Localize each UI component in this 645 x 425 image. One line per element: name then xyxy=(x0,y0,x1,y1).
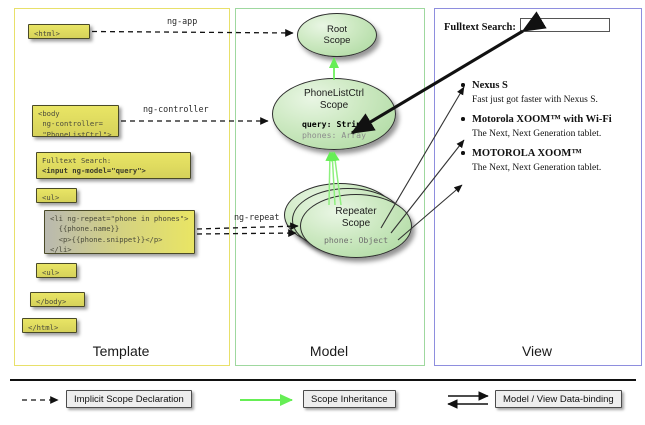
code-box-search: Fulltext Search: <input ng-model="query"… xyxy=(36,152,191,179)
code-box-html-close: </html> xyxy=(22,318,77,333)
panel-label-view: View xyxy=(434,343,640,359)
view-search-input[interactable] xyxy=(520,18,610,32)
legend-item-model-view-data-binding: Model / View Data-binding xyxy=(495,390,622,408)
legend-divider xyxy=(10,379,636,381)
scope-ctrl-line1: PhoneListCtrl xyxy=(304,88,364,100)
panel-view xyxy=(434,8,642,366)
bullet-icon xyxy=(461,151,465,155)
scope-root-line2: Scope xyxy=(324,35,351,46)
phone-name: Motorola XOOM™ with Wi-Fi xyxy=(452,112,632,127)
phone-snippet: The Next, Next Generation tablet. xyxy=(452,127,632,142)
edge-label-ng-app: ng-app xyxy=(167,16,197,26)
phone-snippet: Fast just got faster with Nexus S. xyxy=(452,93,632,108)
code-box-body-open: <body ng-controller= "PhoneListCtrl"> xyxy=(32,105,119,137)
search-box-line2: <input ng-model="query"> xyxy=(42,166,146,175)
phone-name: MOTOROLA XOOM™ xyxy=(452,146,632,161)
scope-root: Root Scope xyxy=(297,13,377,57)
view-phone-list: Nexus S Fast just got faster with Nexus … xyxy=(452,78,632,180)
code-box-ul-open: <ul> xyxy=(36,188,77,203)
scope-var-phone: phone: Object xyxy=(324,236,388,246)
legend-item-scope-inheritance: Scope Inheritance xyxy=(303,390,396,408)
list-item: Nexus S Fast just got faster with Nexus … xyxy=(452,78,632,108)
phone-snippet: The Next, Next Generation tablet. xyxy=(452,161,632,176)
scope-ctrl-line2: Scope xyxy=(320,100,348,112)
bullet-icon xyxy=(461,83,465,87)
view-search-label: Fulltext Search: xyxy=(444,22,516,33)
search-box-line1: Fulltext Search: xyxy=(42,156,111,165)
diagram-canvas: <html> <body ng-controller= "PhoneListCt… xyxy=(0,0,645,425)
code-box-li-repeat: <li ng-repeat="phone in phones"> {{phone… xyxy=(44,210,195,254)
scope-repeater-line1: Repeater xyxy=(335,206,376,218)
edge-label-ng-controller: ng-controller xyxy=(143,104,209,114)
scope-phonelistctrl: PhoneListCtrl Scope query: String phones… xyxy=(272,78,396,150)
list-item: MOTOROLA XOOM™ The Next, Next Generation… xyxy=(452,146,632,176)
code-box-ul-close: <ul> xyxy=(36,263,77,278)
scope-repeater-line2: Scope xyxy=(342,218,370,230)
list-item: Motorola XOOM™ with Wi-Fi The Next, Next… xyxy=(452,112,632,142)
code-box-body-close: </body> xyxy=(30,292,85,307)
panel-label-template: Template xyxy=(14,343,228,359)
scope-repeater: Repeater Scope phone: Object xyxy=(300,194,412,258)
panel-template xyxy=(14,8,230,366)
scope-var-phones: phones: Array xyxy=(302,130,366,140)
bullet-icon xyxy=(461,117,465,121)
code-box-html-open: <html> xyxy=(28,24,90,39)
scope-root-line1: Root xyxy=(327,24,347,35)
legend-item-implicit-scope-declaration: Implicit Scope Declaration xyxy=(66,390,192,408)
edge-label-ng-repeat: ng-repeat xyxy=(234,212,279,222)
panel-label-model: Model xyxy=(235,343,423,359)
scope-var-query: query: String xyxy=(302,119,366,129)
phone-name: Nexus S xyxy=(452,78,632,93)
